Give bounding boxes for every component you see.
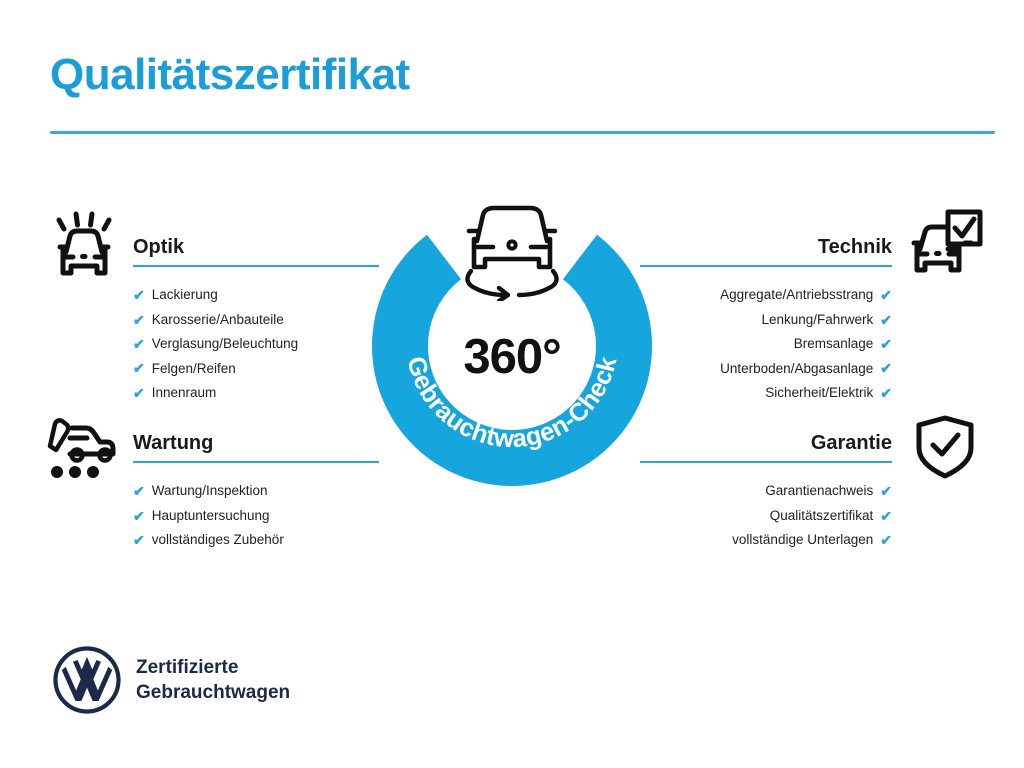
list-item-label: Aggregate/Antriebsstrang bbox=[720, 288, 873, 302]
car-front-rotate-icon bbox=[449, 197, 575, 301]
list-item-label: Hauptuntersuchung bbox=[152, 509, 270, 523]
checklist-wartung: ✔ Wartung/Inspektion ✔ Hauptuntersuchung… bbox=[133, 479, 379, 552]
badge-center-label: 360° bbox=[366, 333, 658, 382]
page-title: Qualitätszertifikat bbox=[50, 52, 410, 98]
section-heading-wartung: Wartung bbox=[133, 432, 379, 461]
list-item: ✔ Lackierung bbox=[133, 283, 379, 307]
section-heading-technik: Technik bbox=[640, 236, 892, 265]
car-front-shine-icon bbox=[46, 210, 120, 285]
section-divider-technik bbox=[640, 265, 892, 267]
list-item: ✔ Innenraum bbox=[133, 381, 379, 405]
list-item: vollständige Unterlagen ✔ bbox=[640, 528, 892, 552]
list-item-label: Innenraum bbox=[152, 386, 217, 400]
check-icon: ✔ bbox=[133, 288, 145, 302]
section-divider-wartung bbox=[133, 461, 379, 463]
car-front-checkbox-icon bbox=[908, 208, 984, 283]
check-icon: ✔ bbox=[880, 484, 892, 498]
footer-brand: Zertifizierte Gebrauchtwagen bbox=[52, 645, 290, 715]
list-item-label: Qualitätszertifikat bbox=[770, 509, 874, 523]
section-divider-garantie bbox=[640, 461, 892, 463]
section-heading-optik: Optik bbox=[133, 236, 379, 265]
list-item-label: Lenkung/Fahrwerk bbox=[761, 313, 873, 327]
list-item: ✔ Verglasung/Beleuchtung bbox=[133, 332, 379, 356]
list-item-label: Sicherheit/Elektrik bbox=[765, 386, 873, 400]
checklist-optik: ✔ Lackierung ✔ Karosserie/Anbauteile ✔ V… bbox=[133, 283, 379, 405]
section-garantie: Garantie Garantienachweis ✔ Qualitätszer… bbox=[640, 432, 892, 552]
list-item: Sicherheit/Elektrik ✔ bbox=[640, 381, 892, 405]
list-item-label: Garantienachweis bbox=[765, 484, 873, 498]
list-item: ✔ vollständiges Zubehör bbox=[133, 528, 379, 552]
check-icon: ✔ bbox=[133, 484, 145, 498]
section-divider-optik bbox=[133, 265, 379, 267]
section-technik: Technik Aggregate/Antriebsstrang ✔ Lenku… bbox=[640, 236, 892, 405]
check-icon: ✔ bbox=[133, 313, 145, 327]
checklist-garantie: Garantienachweis ✔ Qualitätszertifikat ✔… bbox=[640, 479, 892, 552]
title-divider bbox=[50, 131, 995, 134]
check-icon: ✔ bbox=[880, 337, 892, 351]
360-check-badge: Gebrauchtwagen-Check 360° bbox=[366, 195, 658, 487]
check-icon: ✔ bbox=[880, 509, 892, 523]
check-icon: ✔ bbox=[133, 386, 145, 400]
section-heading-garantie: Garantie bbox=[640, 432, 892, 461]
check-icon: ✔ bbox=[133, 533, 145, 547]
list-item-label: Wartung/Inspektion bbox=[152, 484, 268, 498]
check-icon: ✔ bbox=[133, 509, 145, 523]
check-icon: ✔ bbox=[880, 533, 892, 547]
list-item: ✔ Wartung/Inspektion bbox=[133, 479, 379, 503]
list-item-label: Unterboden/Abgasanlage bbox=[720, 362, 873, 376]
list-item: Aggregate/Antriebsstrang ✔ bbox=[640, 283, 892, 307]
section-wartung: Wartung ✔ Wartung/Inspektion ✔ Hauptunte… bbox=[133, 432, 379, 552]
check-icon: ✔ bbox=[880, 313, 892, 327]
check-icon: ✔ bbox=[133, 361, 145, 375]
list-item: ✔ Felgen/Reifen bbox=[133, 356, 379, 380]
footer-text: Zertifizierte Gebrauchtwagen bbox=[136, 655, 290, 706]
check-icon: ✔ bbox=[880, 386, 892, 400]
list-item: Qualitätszertifikat ✔ bbox=[640, 503, 892, 527]
check-icon: ✔ bbox=[880, 361, 892, 375]
list-item-label: vollständige Unterlagen bbox=[732, 533, 873, 547]
list-item-label: vollständiges Zubehör bbox=[152, 533, 284, 547]
volkswagen-logo bbox=[52, 645, 122, 715]
list-item-label: Bremsanlage bbox=[794, 337, 874, 351]
footer-line-1: Zertifizierte bbox=[136, 655, 290, 680]
shield-check-icon bbox=[912, 414, 978, 485]
list-item: Unterboden/Abgasanlage ✔ bbox=[640, 356, 892, 380]
list-item-label: Verglasung/Beleuchtung bbox=[152, 337, 298, 351]
section-optik: Optik ✔ Lackierung ✔ Karosserie/Anbautei… bbox=[133, 236, 379, 405]
check-icon: ✔ bbox=[880, 288, 892, 302]
list-item: Garantienachweis ✔ bbox=[640, 479, 892, 503]
list-item-label: Lackierung bbox=[152, 288, 218, 302]
list-item: ✔ Hauptuntersuchung bbox=[133, 503, 379, 527]
check-icon: ✔ bbox=[133, 337, 145, 351]
list-item-label: Karosserie/Anbauteile bbox=[152, 313, 284, 327]
list-item: ✔ Karosserie/Anbauteile bbox=[133, 307, 379, 331]
list-item-label: Felgen/Reifen bbox=[152, 362, 236, 376]
list-item: Bremsanlage ✔ bbox=[640, 332, 892, 356]
certificate-page: Qualitätszertifikat Optik ✔ Lackierung bbox=[0, 0, 1024, 768]
list-item: Lenkung/Fahrwerk ✔ bbox=[640, 307, 892, 331]
footer-line-2: Gebrauchtwagen bbox=[136, 680, 290, 705]
checklist-technik: Aggregate/Antriebsstrang ✔ Lenkung/Fahrw… bbox=[640, 283, 892, 405]
car-service-tool-icon bbox=[46, 416, 120, 485]
